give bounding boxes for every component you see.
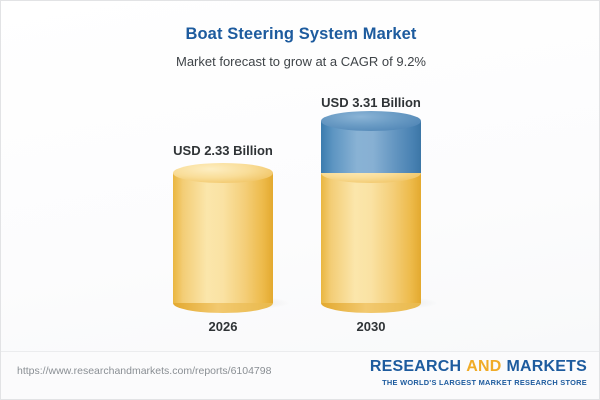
logo-wordmark: RESEARCHANDMARKETS (370, 359, 587, 376)
logo-tagline: THE WORLD'S LARGEST MARKET RESEARCH STOR… (370, 378, 587, 387)
bar-segment-growth (321, 121, 421, 173)
logo-word-research: RESEARCH (370, 358, 461, 375)
brand-logo[interactable]: RESEARCHANDMARKETS THE WORLD'S LARGEST M… (370, 359, 587, 387)
page-title: Boat Steering System Market (1, 25, 600, 44)
cylinder-2030 (321, 121, 421, 303)
chart-plot-area: USD 2.33 Billion 2026 USD 3.31 Billion (1, 91, 600, 341)
cylinder-top-cap (321, 111, 421, 131)
cylinder-body (321, 173, 421, 303)
bar-segment-base (321, 173, 421, 303)
source-url[interactable]: https://www.researchandmarkets.com/repor… (17, 365, 271, 377)
bar-group-2030: USD 3.31 Billion 2030 (301, 91, 441, 341)
cylinder-2026 (173, 173, 273, 303)
bar-value-label: USD 2.33 Billion (153, 143, 293, 158)
bar-value-label: USD 3.31 Billion (301, 95, 441, 110)
category-label: 2026 (153, 319, 293, 334)
logo-word-and: AND (466, 358, 501, 375)
chart-header: Boat Steering System Market Market forec… (1, 1, 600, 69)
logo-word-markets: MARKETS (506, 358, 587, 375)
footer: https://www.researchandmarkets.com/repor… (1, 351, 600, 399)
chart-subtitle: Market forecast to grow at a CAGR of 9.2… (1, 54, 600, 69)
cylinder-body (173, 173, 273, 303)
infographic-card: Boat Steering System Market Market forec… (0, 0, 600, 400)
bar-segment-base (173, 173, 273, 303)
bar-group-2026: USD 2.33 Billion 2026 (153, 91, 293, 341)
cylinder-top-cap (173, 163, 273, 183)
category-label: 2030 (301, 319, 441, 334)
